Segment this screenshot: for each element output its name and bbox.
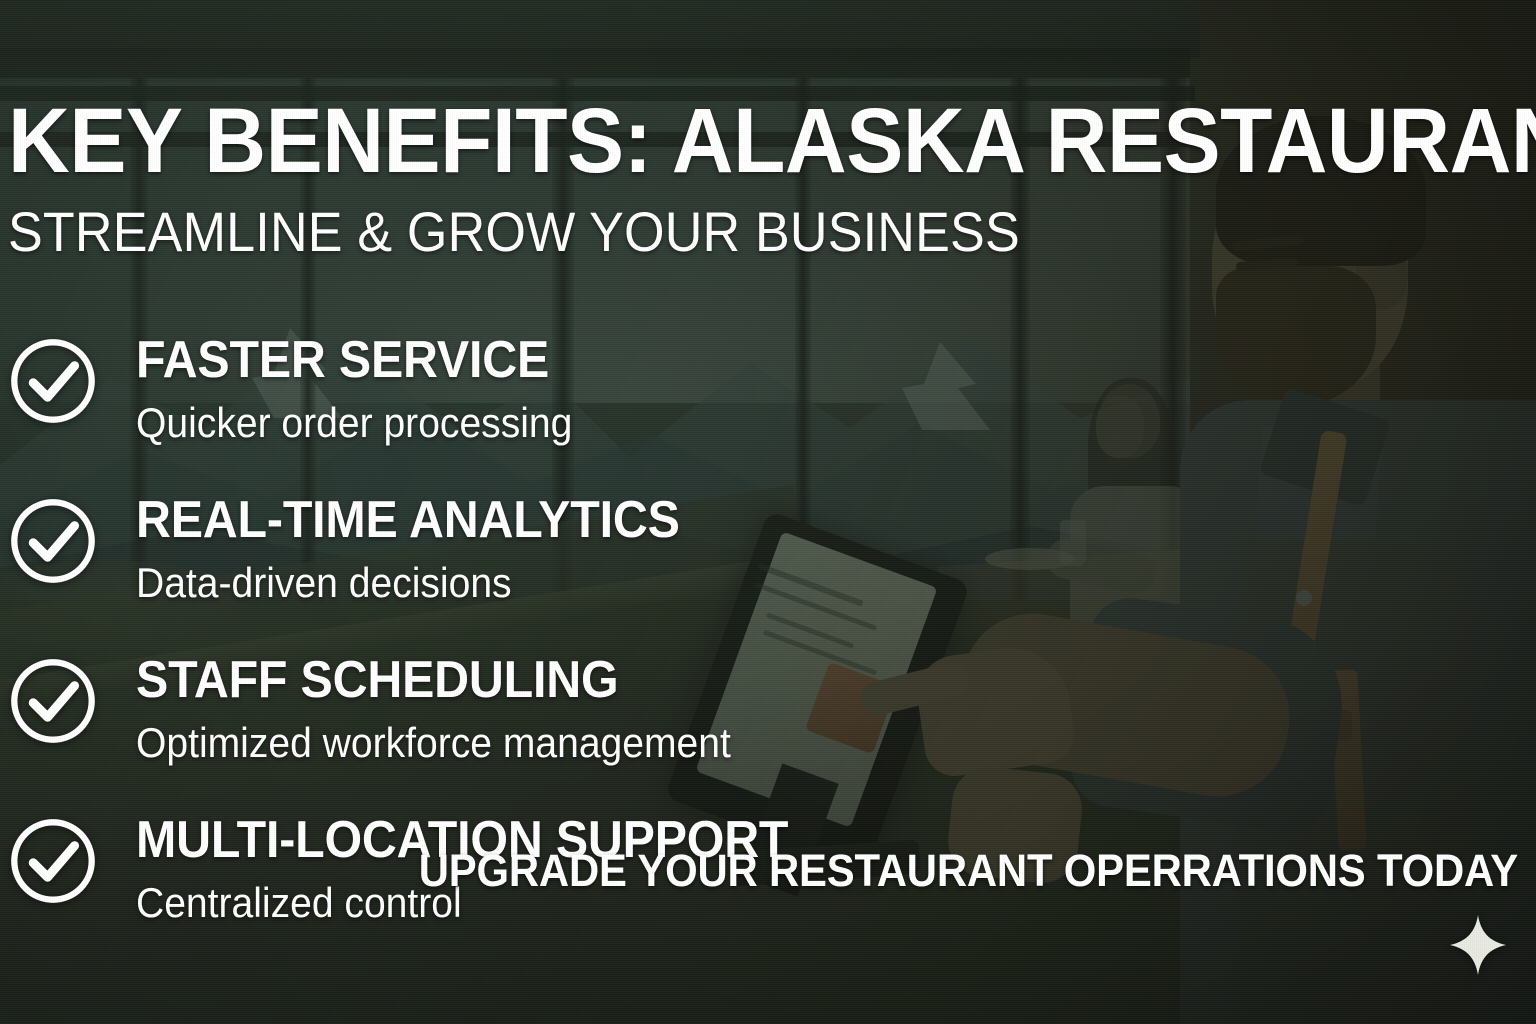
benefit-title: FASTER SERVICE — [136, 334, 549, 386]
benefit-item: REAL-TIME ANALYTICS Data-driven decision… — [0, 480, 780, 640]
check-circle-icon — [8, 336, 98, 426]
benefit-subtitle: Data-driven decisions — [136, 562, 512, 604]
check-circle-icon — [8, 656, 98, 746]
benefit-subtitle: Quicker order processing — [136, 402, 572, 444]
page-title-text: KEY BENEFITS: ALASKA RESTAURANT POS — [8, 102, 1536, 181]
benefit-item: STAFF SCHEDULING Optimized workforce man… — [0, 640, 780, 800]
benefit-title: STAFF SCHEDULING — [136, 654, 618, 706]
benefit-subtitle: Centralized control — [136, 882, 462, 924]
sparkle-icon — [1450, 915, 1506, 975]
benefit-subtitle: Optimized workforce management — [136, 722, 731, 764]
page-subtitle: STREAMLINE & GROW YOUR BUSINESS — [8, 204, 1020, 260]
check-circle-icon — [8, 816, 98, 906]
check-circle-icon — [8, 496, 98, 586]
poster-content: KEY BENEFITS: ALASKA RESTAURANT POS STRE… — [0, 0, 1536, 1024]
page-title: KEY BENEFITS: ALASKA RESTAURANT POS — [8, 102, 1536, 182]
benefit-title: REAL-TIME ANALYTICS — [136, 494, 680, 546]
poster-canvas: KEY BENEFITS: ALASKA RESTAURANT POS STRE… — [0, 0, 1536, 1024]
benefit-item: FASTER SERVICE Quicker order processing — [0, 320, 780, 480]
call-to-action-text: UPGRADE YOUR RESTAURANT OPERRATIONS TODA… — [419, 848, 1518, 893]
